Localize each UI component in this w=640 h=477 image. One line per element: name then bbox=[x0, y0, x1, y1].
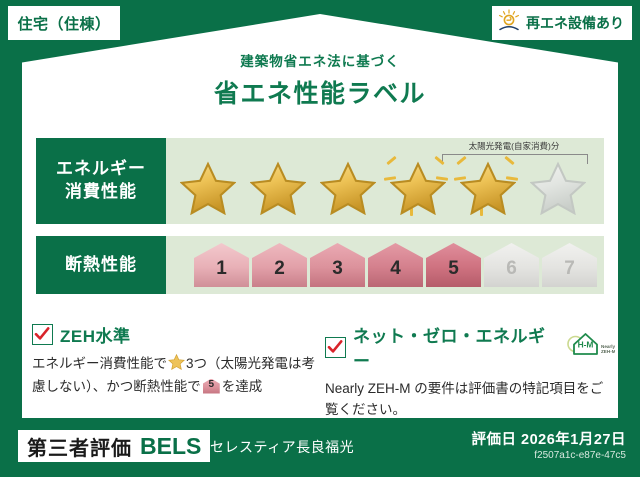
insulation-performance-label: 断熱性能 bbox=[36, 236, 166, 294]
star-filled bbox=[454, 155, 522, 221]
star-icon bbox=[530, 161, 586, 215]
star-empty bbox=[524, 155, 592, 221]
title-block: 建築物省エネ法に基づく 省エネ性能ラベル bbox=[0, 50, 640, 110]
bels-en-label: BELS bbox=[140, 433, 201, 460]
criteria-description: Nearly ZEH-M の要件は評価書の特記項目をご覧ください。 bbox=[325, 379, 615, 420]
checkbox-checked-icon bbox=[32, 324, 53, 345]
bels-jp-label: 第三者評価 bbox=[27, 432, 132, 461]
grade-badge-empty: 6 bbox=[484, 243, 539, 287]
grade-badge-filled: 3 bbox=[310, 243, 365, 287]
grade-badge-value: 5 bbox=[448, 258, 459, 287]
evaluation-id: f2507a1c-e87e-47c5 bbox=[534, 450, 626, 461]
grade-badge-filled: 1 bbox=[194, 243, 249, 287]
grade-badge-value: 1 bbox=[216, 258, 227, 287]
building-type-tag: 住宅（住棟） bbox=[8, 6, 120, 40]
criteria-text-pre: エネルギー消費性能で bbox=[32, 356, 167, 371]
property-name: セレスティア長良福光 bbox=[210, 437, 354, 457]
insulation-performance-row: 断熱性能 1234567 bbox=[36, 236, 604, 294]
criteria-net-zero-energy: ネット・ゼロ・エネルギー H-M Nearly ZEH-M Nearly ZEH… bbox=[325, 322, 615, 420]
inline-grade-value: 5 bbox=[203, 379, 220, 394]
grade-badge-value: 4 bbox=[390, 258, 401, 287]
building-type-label: 住宅（住棟） bbox=[17, 13, 110, 34]
solar-annotation-text: 太陽光発電(自家消費)分 bbox=[438, 140, 590, 152]
criteria-header: ネット・ゼロ・エネルギー H-M Nearly ZEH-M bbox=[325, 322, 615, 372]
grade-badge-value: 6 bbox=[506, 258, 517, 287]
star-filled bbox=[384, 155, 452, 221]
criteria-header: ZEH水準 bbox=[32, 322, 322, 347]
footer: 第三者評価 BELS セレスティア長良福光 評価日 2026年1月27日 f25… bbox=[0, 424, 640, 477]
label-subtitle: 建築物省エネ法に基づく bbox=[0, 50, 640, 70]
criteria-text-post: を達成 bbox=[222, 379, 263, 394]
grade-badge-filled: 4 bbox=[368, 243, 423, 287]
insulation-performance-rating: 1234567 bbox=[166, 236, 604, 294]
grade-badge-empty: 7 bbox=[542, 243, 597, 287]
energy-performance-rating: 太陽光発電(自家消費)分 bbox=[166, 138, 604, 224]
star-icon bbox=[320, 161, 376, 215]
star-filled bbox=[174, 155, 242, 221]
grade-badge-value: 7 bbox=[564, 258, 575, 287]
star-filled bbox=[314, 155, 382, 221]
star-icon bbox=[250, 161, 306, 215]
renewable-energy-label: 再エネ設備あり bbox=[526, 13, 624, 33]
svg-text:ZEH-M: ZEH-M bbox=[601, 349, 615, 354]
grade-badge-filled: 2 bbox=[252, 243, 307, 287]
evaluation-date: 評価日 2026年1月27日 bbox=[472, 428, 626, 449]
criteria-title: ZEH水準 bbox=[60, 322, 131, 347]
inline-star-icon bbox=[168, 354, 185, 377]
star-icon bbox=[180, 161, 236, 215]
criteria-description: エネルギー消費性能で 3つ（太陽光発電は考慮しない）、かつ断熱性能で 5 を達成 bbox=[32, 354, 322, 397]
star-filled bbox=[244, 155, 312, 221]
grade-badge-filled: 5 bbox=[426, 243, 481, 287]
checkbox-checked-icon bbox=[325, 337, 346, 358]
grade-badge-value: 3 bbox=[332, 258, 343, 287]
grade-badge-value: 2 bbox=[274, 258, 285, 287]
criteria-title: ネット・ゼロ・エネルギー bbox=[353, 322, 553, 372]
sun-icon bbox=[496, 8, 522, 39]
inline-grade-badge: 5 bbox=[203, 379, 220, 394]
energy-label-card: 住宅（住棟） 再エネ設備あり 建築物省エネ法に基づく 省エネ性能ラベル bbox=[0, 0, 640, 477]
grade-badges: 1234567 bbox=[166, 243, 597, 287]
renewable-energy-badge: 再エネ設備あり bbox=[492, 6, 632, 40]
star-icon bbox=[390, 161, 446, 215]
svg-text:H-M: H-M bbox=[578, 339, 594, 349]
energy-performance-label: エネルギー 消費性能 bbox=[36, 138, 166, 224]
page-title: 省エネ性能ラベル bbox=[0, 74, 640, 110]
star-icon bbox=[460, 161, 516, 215]
energy-performance-row: エネルギー 消費性能 太陽光発電(自家消費)分 bbox=[36, 138, 604, 224]
bels-certification-badge: 第三者評価 BELS bbox=[18, 430, 210, 462]
zeh-m-house-logo: H-M Nearly ZEH-M bbox=[565, 330, 615, 365]
star-rating bbox=[166, 155, 592, 221]
criteria-zeh-standard: ZEH水準 エネルギー消費性能で 3つ（太陽光発電は考慮しない）、かつ断熱性能で… bbox=[32, 322, 322, 397]
